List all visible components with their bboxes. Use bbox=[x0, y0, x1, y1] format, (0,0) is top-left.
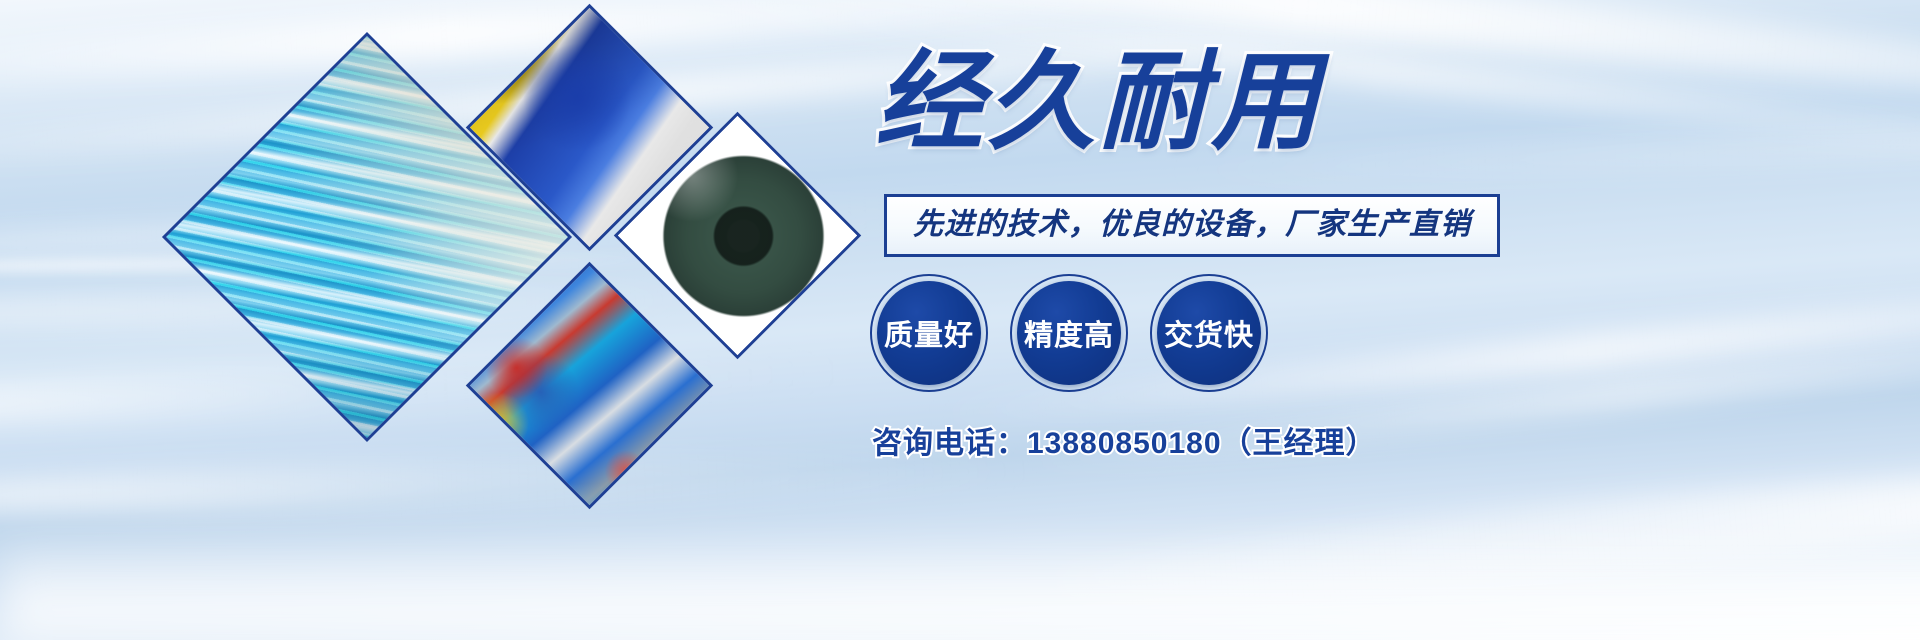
subtitle-box: 先进的技术，优良的设备，厂家生产直销 bbox=[884, 194, 1500, 257]
badge-quality[interactable]: 质量好 bbox=[870, 274, 988, 392]
contact-phone[interactable]: 咨询电话：13880850180（王经理） bbox=[872, 418, 1377, 462]
headline: 经久耐用 bbox=[875, 48, 1323, 156]
badge-precision[interactable]: 精度高 bbox=[1010, 274, 1128, 392]
promo-banner: 经久耐用 先进的技术，优良的设备，厂家生产直销 质量好 精度高 交货快 咨询电话… bbox=[0, 0, 1920, 640]
diamond-photo-collage bbox=[150, 20, 850, 620]
badge-delivery[interactable]: 交货快 bbox=[1150, 274, 1268, 392]
feature-badges: 质量好 精度高 交货快 bbox=[870, 274, 1268, 392]
badge-label: 精度高 bbox=[1024, 312, 1114, 354]
badge-label: 交货快 bbox=[1164, 312, 1254, 354]
banner-content: 经久耐用 先进的技术，优良的设备，厂家生产直销 质量好 精度高 交货快 咨询电话… bbox=[860, 0, 1920, 640]
subtitle-text: 先进的技术，优良的设备，厂家生产直销 bbox=[913, 208, 1471, 241]
badge-label: 质量好 bbox=[884, 312, 974, 354]
